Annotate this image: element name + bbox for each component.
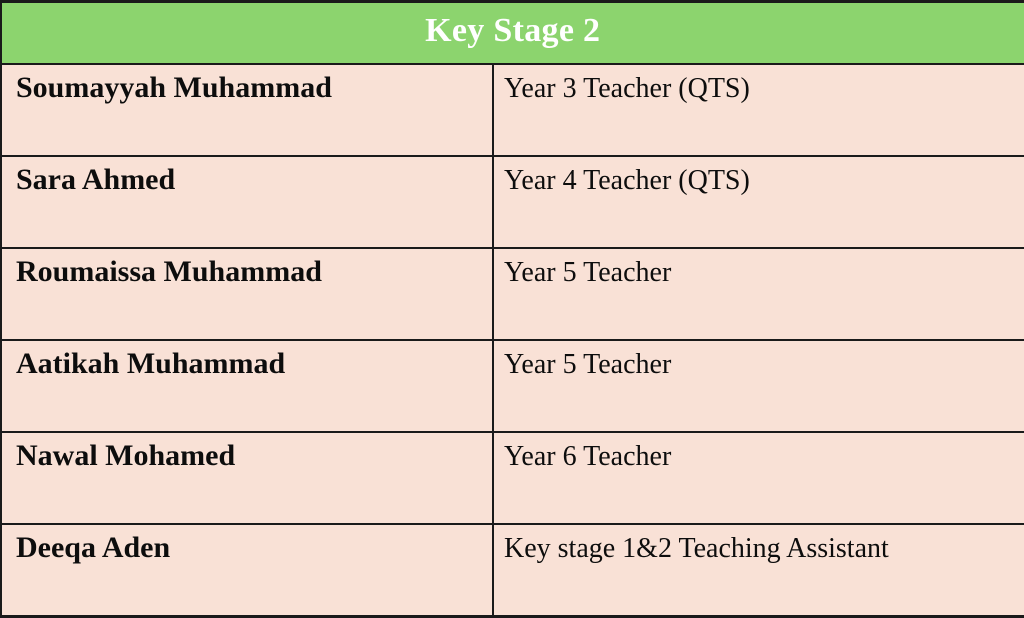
key-stage-2-staff-table: Key Stage 2 Soumayyah MuhammadYear 3 Tea… xyxy=(0,0,1024,618)
staff-name-cell: Nawal Mohamed xyxy=(1,432,493,524)
table-body: Soumayyah MuhammadYear 3 Teacher (QTS)Sa… xyxy=(1,64,1024,617)
staff-role-cell: Key stage 1&2 Teaching Assistant xyxy=(493,524,1024,617)
table-row: Roumaissa MuhammadYear 5 Teacher xyxy=(1,248,1024,340)
table-header: Key Stage 2 xyxy=(1,2,1024,65)
table-row: Aatikah MuhammadYear 5 Teacher xyxy=(1,340,1024,432)
staff-role-cell: Year 6 Teacher xyxy=(493,432,1024,524)
table-row: Deeqa AdenKey stage 1&2 Teaching Assista… xyxy=(1,524,1024,617)
staff-role-cell: Year 4 Teacher (QTS) xyxy=(493,156,1024,248)
table-title: Key Stage 2 xyxy=(1,2,1024,65)
staff-name-cell: Deeqa Aden xyxy=(1,524,493,617)
table-header-row: Key Stage 2 xyxy=(1,2,1024,65)
staff-name-cell: Sara Ahmed xyxy=(1,156,493,248)
staff-name-cell: Soumayyah Muhammad xyxy=(1,64,493,156)
staff-role-cell: Year 5 Teacher xyxy=(493,340,1024,432)
staff-name-cell: Aatikah Muhammad xyxy=(1,340,493,432)
table-row: Nawal MohamedYear 6 Teacher xyxy=(1,432,1024,524)
staff-name-cell: Roumaissa Muhammad xyxy=(1,248,493,340)
table-row: Soumayyah MuhammadYear 3 Teacher (QTS) xyxy=(1,64,1024,156)
staff-role-cell: Year 3 Teacher (QTS) xyxy=(493,64,1024,156)
table-row: Sara AhmedYear 4 Teacher (QTS) xyxy=(1,156,1024,248)
staff-role-cell: Year 5 Teacher xyxy=(493,248,1024,340)
